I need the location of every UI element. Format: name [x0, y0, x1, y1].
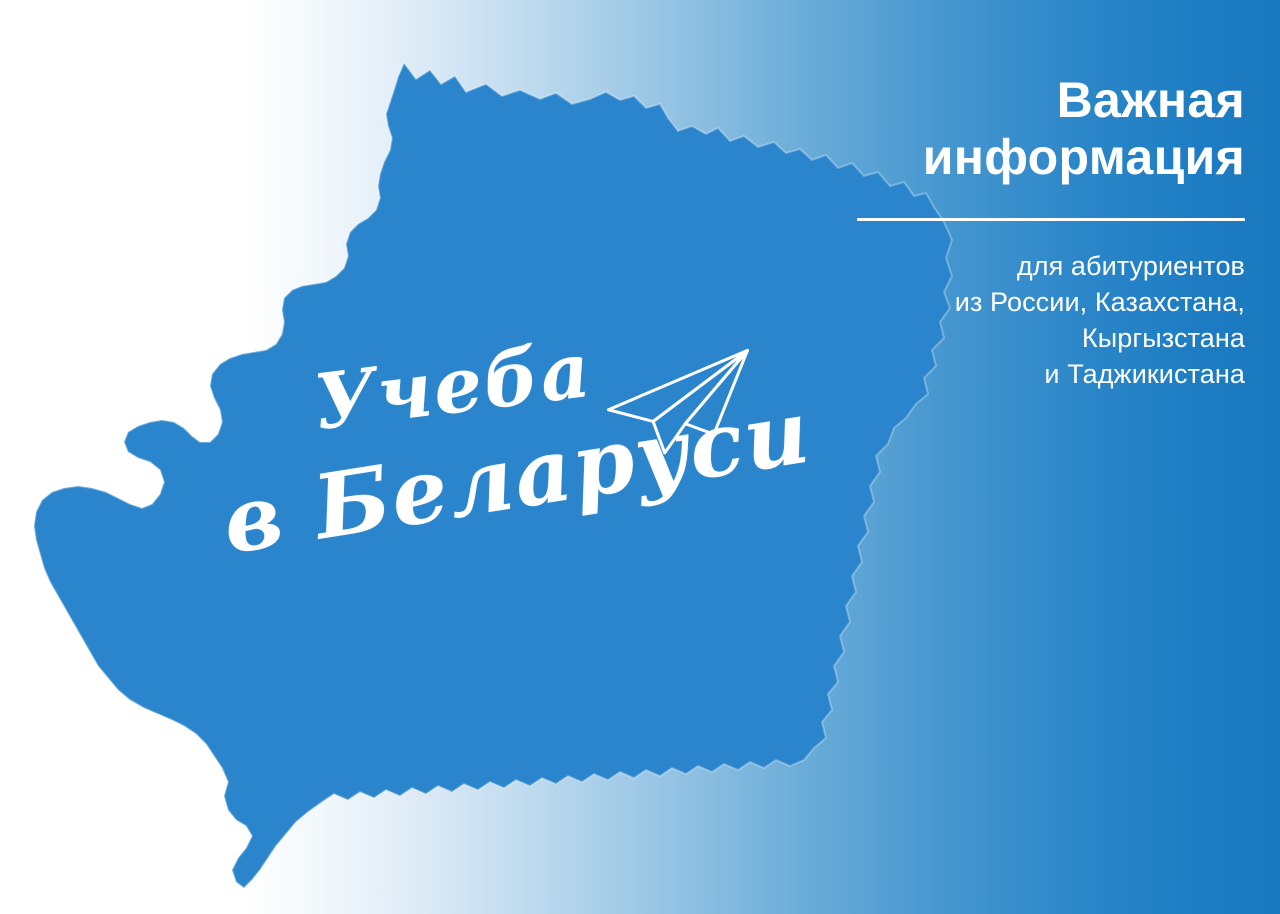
poster-root: Учеба в Беларуси Важная информация для а… [0, 0, 1280, 914]
info-column: Важная информация для абитуриентов из Ро… [815, 72, 1245, 393]
subtitle-line-3: Кыргызстана [815, 321, 1245, 357]
page-title: Важная информация [815, 72, 1245, 186]
divider-rule [857, 218, 1245, 221]
subtitle-line-1: для абитуриентов [815, 249, 1245, 285]
headline-line-1: Важная [815, 72, 1245, 129]
headline-line-2: информация [815, 129, 1245, 186]
subtitle: для абитуриентов из России, Казахстана, … [815, 249, 1245, 393]
subtitle-line-4: и Таджикистана [815, 357, 1245, 393]
subtitle-line-2: из России, Казахстана, [815, 285, 1245, 321]
